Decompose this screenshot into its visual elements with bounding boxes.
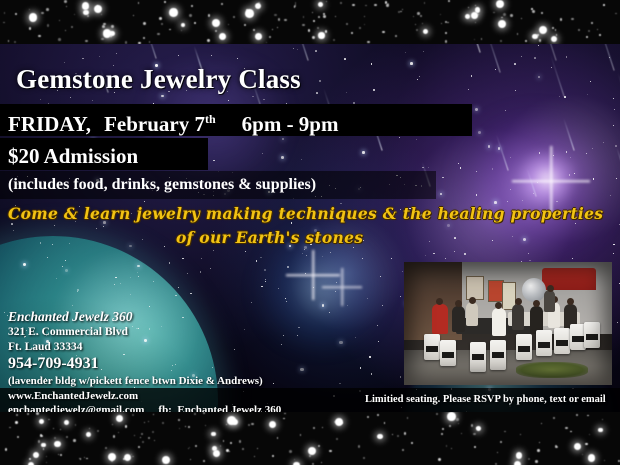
website-link[interactable]: www.EnchantedJewelz.com bbox=[8, 389, 281, 404]
admission-price: $20 Admission bbox=[8, 144, 138, 169]
event-time: 6pm - 9pm bbox=[242, 112, 339, 136]
rsvp-note: Limitied seating. Please RSVP by phone, … bbox=[365, 394, 606, 405]
contact-block: Enchanted Jewelz 360 321 E. Commercial B… bbox=[8, 308, 281, 418]
event-day: FRIDAY, bbox=[8, 112, 91, 136]
page-title: Gemstone Jewelry Class bbox=[16, 64, 301, 95]
tagline-line-1: Come & learn jewelry making techniques &… bbox=[8, 204, 603, 223]
event-month-day: February 7 bbox=[104, 112, 205, 136]
photo-vignette bbox=[404, 262, 612, 385]
top-starfield-strip bbox=[0, 0, 620, 44]
event-date-line: FRIDAY,February 7th6pm - 9pm bbox=[8, 112, 338, 137]
street-address: 321 E. Commercial Blvd bbox=[8, 325, 281, 340]
business-name: Enchanted Jewelz 360 bbox=[8, 308, 281, 325]
includes-note: (includes food, drinks, gemstones & supp… bbox=[8, 176, 316, 194]
phone-number[interactable]: 954-709-4931 bbox=[8, 354, 281, 374]
gemstone-jewelry-class-flyer: Gemstone Jewelry Class FRIDAY,February 7… bbox=[0, 0, 620, 465]
class-photo bbox=[404, 262, 612, 385]
tagline-line-2: of our Earth's stones bbox=[176, 228, 363, 247]
bottom-starfield-strip bbox=[0, 412, 620, 465]
date-ordinal-suffix: th bbox=[205, 112, 216, 126]
directions-note: (lavender bldg w/pickett fence btwn Dixi… bbox=[8, 374, 281, 389]
city-zip: Ft. Laud 33334 bbox=[8, 340, 281, 355]
